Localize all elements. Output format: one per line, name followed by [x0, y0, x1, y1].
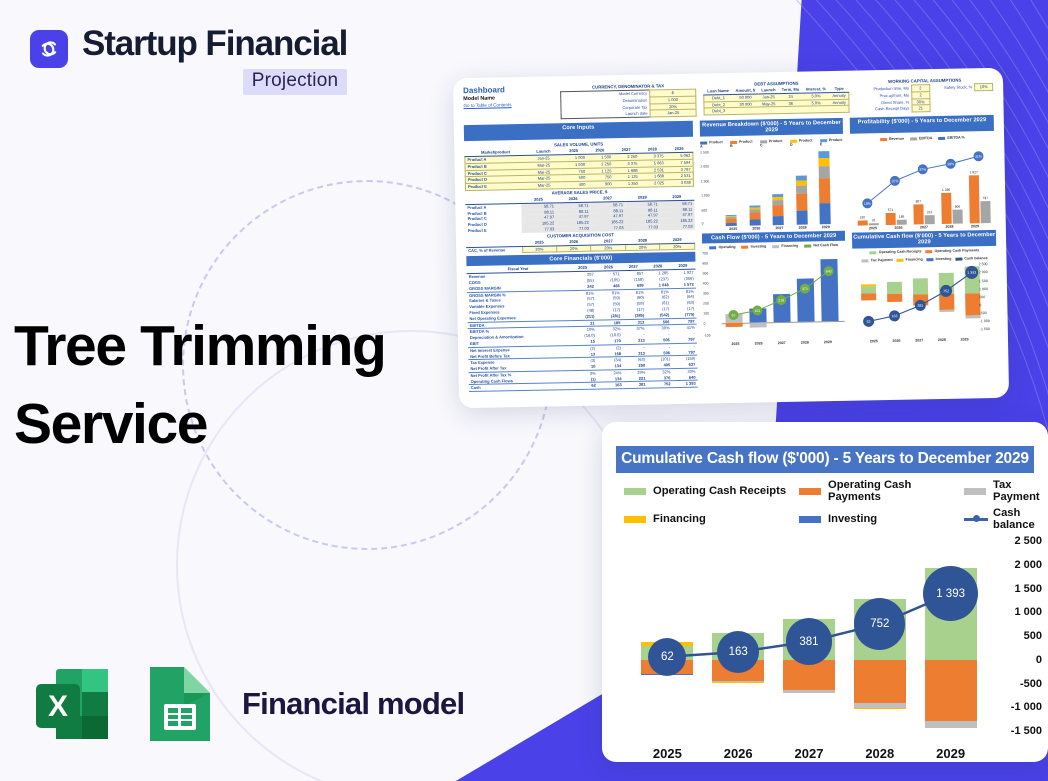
legend-item: Product C: [760, 139, 784, 147]
legend-label: Financing: [906, 258, 923, 262]
svg-text:163: 163: [892, 314, 898, 318]
cell: CAC, % of Revenue: [466, 246, 522, 254]
microsoft-excel-icon: X: [30, 662, 114, 746]
profitability-and-cumulative-panel: Revenue EBITDA EBITDA %: [851, 133, 999, 385]
bar-2025: [726, 215, 737, 226]
page-title: Tree Trimming Service: [14, 308, 484, 463]
legend-item: Net Cash Flow: [804, 243, 838, 248]
cell: Debt_3: [704, 108, 732, 115]
legend-item: EBITDA %: [938, 136, 965, 141]
col-header: Term, Mo: [779, 87, 803, 94]
chart-title: Cumulative Cash flow ($'000) - 5 Years t…: [616, 446, 1034, 473]
cell: 3 038: [666, 179, 693, 186]
x-label: 2029: [971, 224, 979, 228]
brand-text-block: Startup Financial Projection: [82, 26, 347, 95]
sales-volume-table: Market/product Launch 2025 2026 2027 202…: [464, 146, 694, 191]
svg-text:297: 297: [860, 216, 866, 220]
dashboard-middle-row: SALES VOLUME, UNITS Market/product Launc…: [464, 133, 999, 392]
legend-item: Operating Cash Receipts: [870, 250, 922, 255]
dashboard-heading-block: Dashboard Model Name Go to Table of Cont…: [463, 84, 553, 121]
svg-text:185: 185: [899, 215, 905, 219]
legend-swatch: [799, 516, 821, 523]
svg-text:640: 640: [826, 270, 832, 274]
revenue-yaxis: 2 5002 000 1 5001 000 5000: [700, 150, 715, 226]
x-label: 2026: [895, 226, 903, 230]
legend-swatch: [624, 516, 646, 523]
cell: 20%: [660, 243, 695, 250]
dashboard-top-row: Dashboard Model Name Go to Table of Cont…: [463, 76, 994, 121]
legend-label: Operating Cash Receipts: [653, 485, 786, 497]
svg-text:X: X: [48, 690, 68, 723]
bar-2028: [795, 176, 807, 225]
svg-text:37%: 37%: [920, 168, 927, 172]
dashboard-preview-card[interactable]: Dashboard Model Name Go to Table of Cont…: [453, 68, 1009, 408]
brand-title: Startup Financial: [82, 26, 347, 63]
legend-item: Operating Cash Payments: [925, 248, 979, 253]
cumulative-mini-yaxis: 2 5002 000 1 5001 000 5000 -500-1 000 -1…: [979, 262, 998, 336]
legend-label: Operating Cash Payments: [934, 248, 979, 253]
cell: 20%: [626, 243, 661, 250]
cumulative-cashflow-chart-card[interactable]: Cumulative Cash flow ($'000) - 5 Years t…: [602, 422, 1048, 762]
currency-table: Model Currency$ Denomination1 000 Corpor…: [560, 89, 697, 120]
x-axis-label: 2029: [925, 746, 977, 761]
svg-text:1 393: 1 393: [968, 271, 977, 275]
e-glyph-icon: [36, 36, 62, 62]
excel-glyph-icon: X: [30, 662, 114, 746]
legend-item-investing: Investing: [799, 507, 964, 531]
legend-item: EBITDA: [910, 136, 932, 140]
dashboard-spreadsheet: Dashboard Model Name Go to Table of Cont…: [453, 68, 1009, 408]
cell: 62: [572, 383, 598, 390]
svg-text:313: 313: [927, 210, 933, 214]
cashflow-chart: 700600 500400 300200 1000 -100: [702, 249, 847, 342]
svg-text:1 285: 1 285: [942, 188, 950, 192]
x-label: 2028: [799, 226, 807, 230]
svg-text:10%: 10%: [864, 202, 871, 206]
svg-text:752: 752: [943, 289, 949, 293]
legend-label: Investing: [936, 257, 952, 261]
legend-item: Product E: [820, 138, 844, 146]
debt-table: Loan Name Amount, $ Launch Term, Mo Inte…: [703, 86, 850, 116]
x-axis-label: 2028: [854, 746, 906, 761]
cell: 900: [587, 181, 613, 188]
cell: 20%: [557, 245, 592, 252]
x-axis-label: 2025: [641, 746, 693, 761]
svg-text:101: 101: [754, 309, 760, 313]
x-label: 2029: [824, 340, 832, 344]
legend-item: Operating: [710, 245, 736, 249]
left-content-column: Startup Financial Projection Tree Trimmi…: [0, 0, 470, 781]
revenue-chart-band: Revenue Breakdown ($'000) - 5 Years to D…: [700, 118, 844, 137]
legend-swatch: [624, 488, 646, 495]
revenue-bars: [700, 148, 845, 227]
cash-balance-line-icon: 62163381 7521 393: [855, 262, 986, 338]
legend-item: Cash balance: [955, 256, 987, 261]
working-capital-block: WORKING CAPITAL ASSUMPTIONS Production t…: [856, 76, 993, 114]
legend-item-operating-cash-payments: Operating Cash Payments: [799, 479, 964, 503]
x-axis-label: 2027: [783, 746, 835, 761]
legend-item: Product D: [790, 139, 814, 147]
svg-text:32%: 32%: [892, 179, 899, 183]
legend-item: Financing: [772, 244, 798, 248]
x-label: 2028: [945, 225, 953, 229]
x-label: 2028: [801, 341, 809, 345]
x-label: 2027: [775, 226, 783, 230]
row-value: Jan-25: [650, 110, 696, 118]
google-sheets-icon: [144, 662, 216, 746]
legend-label: Operating: [719, 245, 736, 249]
row-label: Launch date: [561, 110, 650, 119]
cell: 381: [624, 382, 648, 389]
cashflow-yaxis: 700600 500400 300200 1000 -100: [702, 251, 718, 341]
core-financials-table: Fiscal Year 2025 2026 2027 2028 2029 Rev…: [467, 263, 698, 392]
core-inputs-panel: SALES VOLUME, UNITS Market/product Launc…: [464, 139, 698, 392]
revenue-and-cashflow-panel: Product A Product B Product C Product D …: [700, 136, 848, 388]
revenue-breakdown-chart: 2 5002 000 1 5001 000 5000: [700, 148, 845, 227]
legend-line-marker-icon: [964, 514, 988, 524]
cell: 20%: [522, 245, 557, 252]
cell: Mar-25: [527, 182, 561, 189]
x-label: 2025: [869, 226, 877, 230]
cash-balance-marker: 62: [648, 638, 686, 676]
financial-model-label: Financial model: [242, 686, 464, 722]
legend-item: Product A: [700, 140, 724, 148]
x-label: 2028: [938, 338, 946, 342]
x-label: 2029: [961, 338, 969, 342]
bar-2027: [772, 194, 784, 225]
cash-balance-marker: 381: [786, 618, 833, 665]
table-row: Debt_3: [704, 106, 849, 116]
legend-label: Investing: [828, 513, 877, 525]
working-capital-table: Production time, Mo 2 Safety Stock, % 10…: [857, 83, 994, 114]
currency-assumptions-block: CURRENCY, DENOMINATOR & TAX Model Curren…: [560, 82, 697, 120]
legend-item: Tax Payment: [862, 258, 893, 263]
svg-text:857: 857: [916, 200, 922, 204]
col-header: Amount, $: [732, 87, 758, 94]
chart-plot-area: 2 5002 0001 5001 0005000-500-1 000-1 500…: [602, 541, 1048, 755]
cell: Cash: [469, 383, 572, 392]
legend-item: Investing: [742, 245, 767, 249]
x-label: 2026: [892, 339, 900, 343]
e-logo-icon: [30, 30, 68, 68]
table-row: Launch dateJan-25: [561, 110, 697, 119]
x-label: 2029: [822, 225, 830, 229]
svg-text:381: 381: [918, 304, 924, 308]
svg-text:41%: 41%: [975, 155, 982, 159]
legend-item-operating-cash-receipts: Operating Cash Receipts: [624, 479, 799, 503]
x-label: 2025: [729, 227, 737, 231]
cumulative-mini-plot: 62163381 7521 393: [855, 262, 980, 338]
cell: 1 350: [614, 180, 640, 187]
legend-label: Financing: [653, 513, 706, 525]
cell: 752: [647, 381, 672, 388]
x-label: 2027: [915, 339, 923, 343]
profitability-chart: 10%32%37% 39%41% 29731 571185 857313 1 2…: [851, 141, 996, 226]
legend-item: Investing: [927, 257, 952, 261]
net-cashflow-line-icon: 62101218 371640: [720, 249, 850, 341]
legend-label: Operating Cash Receipts: [879, 250, 922, 255]
y-axis-tick: -500: [1020, 678, 1042, 690]
col-header: Launch: [758, 87, 778, 94]
legend-item: Revenue: [880, 137, 904, 141]
legend-label: Investing: [751, 245, 767, 249]
legend-item-tax-payment: Tax Payment: [964, 479, 1040, 503]
ebitda-pct-line-icon: 10%32%37% 39%41% 29731 571185 857313 1 2…: [855, 141, 1001, 226]
cell: 20%: [591, 244, 626, 251]
svg-text:62: 62: [867, 320, 871, 324]
profitability-plot: 10%32%37% 39%41% 29731 571185 857313 1 2…: [855, 141, 994, 226]
svg-text:371: 371: [802, 287, 808, 291]
x-label: 2025: [731, 342, 739, 346]
row-value: 21: [912, 105, 930, 112]
legend-label: Financing: [781, 244, 798, 248]
debt-assumptions-block: DEBT ASSUMPTIONS Loan Name Amount, $ Lau…: [703, 79, 850, 117]
svg-text:797: 797: [983, 196, 989, 200]
legend-label: EBITDA: [919, 136, 932, 140]
legend-label: Cash balance: [964, 256, 987, 260]
legend-label: EBITDA %: [947, 136, 965, 140]
legend-swatch: [964, 488, 986, 495]
x-label: 2027: [920, 225, 928, 229]
avg-price-table: 2025 2026 2027 2028 2029 Product A 58.71…: [465, 194, 695, 234]
svg-text:571: 571: [888, 208, 894, 212]
cell: 2 025: [640, 180, 666, 187]
legend-item: Product B: [730, 140, 754, 148]
legend-label: Net Cash Flow: [813, 243, 838, 247]
legend-swatch: [799, 488, 821, 495]
table-row: Cash Receipt Days 21: [857, 104, 993, 113]
core-inputs-band: Core Inputs: [464, 121, 693, 141]
x-label: 2025: [870, 339, 878, 343]
sheets-glyph-icon: [144, 662, 216, 746]
format-badges-row: X Financial model: [30, 662, 464, 746]
x-label: 2027: [778, 341, 786, 345]
cumulative-chart-mini: 62163381 7521 393 2 5002 000 1 5001 000 …: [853, 262, 998, 339]
cell: 400: [561, 181, 587, 188]
x-label: 2026: [752, 227, 760, 231]
cell: 163: [598, 382, 624, 389]
svg-text:1 927: 1 927: [970, 170, 978, 174]
legend-label: Cash balance: [993, 507, 1040, 531]
y-axis-tick: 0: [1036, 654, 1042, 666]
svg-text:62: 62: [731, 314, 735, 318]
profitability-chart-band: Profitability ($'000) - 5 Years to Decem…: [850, 115, 994, 134]
col-header: Loan Name: [704, 88, 732, 95]
bar-2029: [819, 151, 831, 224]
cashflow-plot: 62101218 371640: [720, 249, 845, 341]
legend-label: Tax Payment: [871, 258, 893, 262]
legend-label: Revenue: [889, 137, 904, 141]
table-of-contents-link[interactable]: Go to Table of Contents: [463, 101, 553, 109]
legend-item-cash-balance: Cash balance: [964, 507, 1040, 531]
svg-text:218: 218: [778, 299, 784, 303]
cash-balance-marker: 752: [854, 598, 905, 649]
svg-text:506: 506: [955, 205, 961, 209]
legend-item: Financing: [897, 258, 923, 262]
x-label: 2026: [755, 342, 763, 346]
brand-subtitle: Projection: [243, 69, 348, 95]
y-axis-tick: 500: [1024, 630, 1042, 642]
brand-lockup: Startup Financial Projection: [30, 26, 347, 95]
cell: 1 393: [673, 381, 698, 388]
legend-item-financing: Financing: [624, 507, 799, 531]
legend-label: Operating Cash Payments: [828, 479, 964, 503]
svg-text:39%: 39%: [948, 162, 955, 166]
chart-legend: Operating Cash Receipts Operating Cash P…: [624, 479, 1030, 531]
svg-text:31: 31: [872, 218, 876, 222]
col-header: Interest, %: [802, 86, 829, 93]
core-financials-body: Revenue2975718571 2851 927COGS(55)(105)(…: [467, 269, 698, 392]
bar-2026: [749, 206, 760, 226]
legend-label: Tax Payment: [993, 479, 1040, 503]
x-axis-label: 2026: [712, 746, 764, 761]
row-label: Cash Receipt Days: [857, 105, 912, 113]
